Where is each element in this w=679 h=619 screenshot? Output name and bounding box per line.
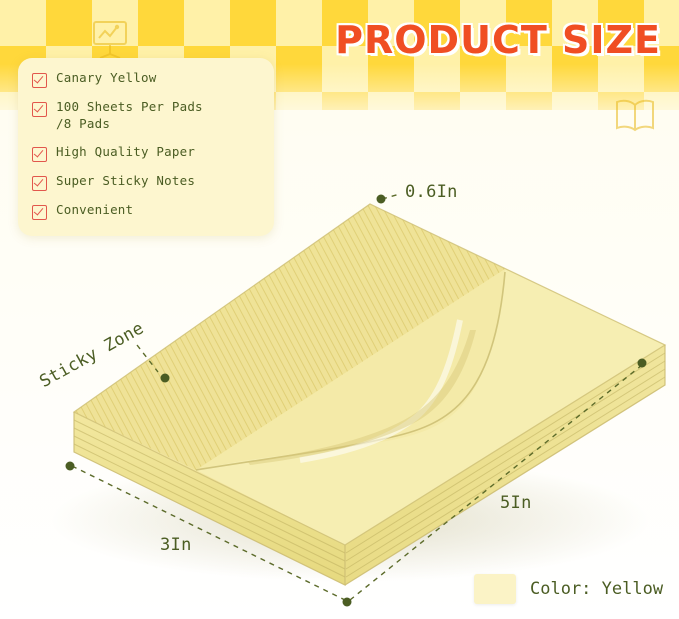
legend-label: Color: Yellow <box>530 579 663 599</box>
annotation-width: 3In <box>160 535 192 555</box>
sticky-note-pad <box>0 0 679 619</box>
annotation-thickness: 0.6In <box>405 182 458 202</box>
product-infographic: PRODUCT SIZE Canary Yellow 100 Sheets Pe… <box>0 0 679 619</box>
annotation-length: 5In <box>500 493 532 513</box>
color-legend: Color: Yellow <box>474 574 663 604</box>
color-swatch <box>474 574 516 604</box>
